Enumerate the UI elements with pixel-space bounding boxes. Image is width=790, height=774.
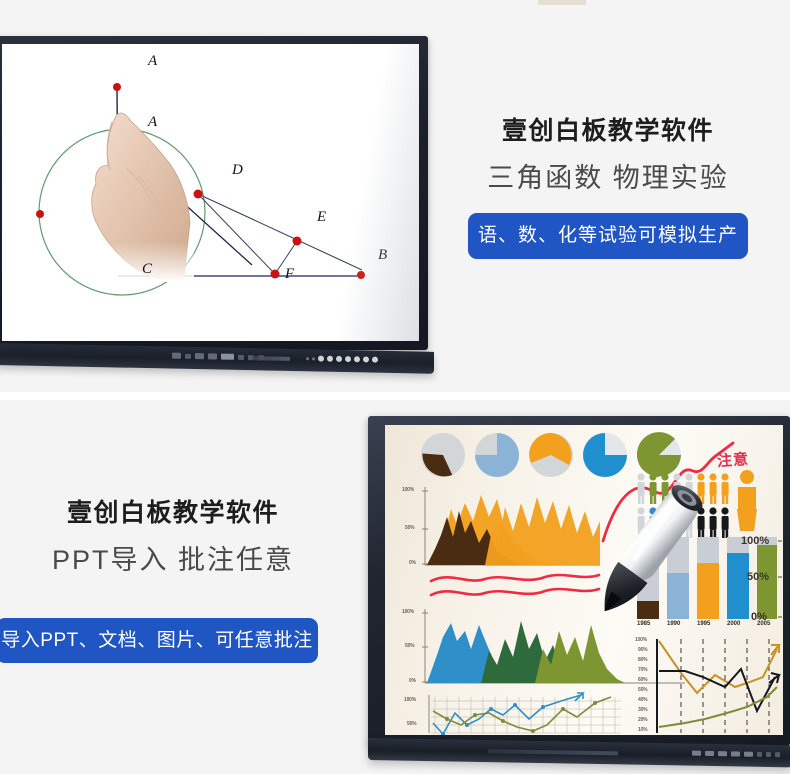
axis-tick-label: 60% <box>638 677 647 683</box>
geometry-point <box>271 270 280 279</box>
geometry-point <box>293 237 302 246</box>
control-button[interactable] <box>757 752 762 757</box>
display-control-buttons[interactable] <box>172 353 264 361</box>
axis-tick-label: 50% <box>405 525 414 531</box>
geometry-construction <box>2 44 419 341</box>
annotation-label: 注意 <box>716 448 749 471</box>
geometry-point <box>357 271 365 279</box>
control-button[interactable] <box>238 354 244 359</box>
interactive-whiteboard-display-top[interactable]: A A D E B F C <box>0 36 434 368</box>
geometry-label-a2: A <box>148 114 157 131</box>
indicator-dot <box>345 356 351 362</box>
top-subheadline: 三角函数 物理实验 <box>452 164 764 194</box>
geometry-label-b: B <box>378 247 387 264</box>
brand-plate <box>488 749 618 755</box>
top-notch-decoration <box>538 0 586 5</box>
axis-tick-label: 70% <box>638 667 647 673</box>
axis-tick-label: 20% <box>638 717 647 723</box>
ppt-annotation-section: 壹创白板教学软件 PPT导入 批注任意 导入PPT、文档、图片、可任意批注 <box>0 400 790 774</box>
axis-tick-label: 100% <box>402 609 414 615</box>
grid-line-chart <box>429 693 621 735</box>
axis-tick-label: 100% <box>402 487 414 493</box>
axis-tick-label: 50% <box>405 643 414 649</box>
geometry-label-d: D <box>232 162 243 179</box>
annotation-squiggles <box>431 575 599 595</box>
infographic-dashboard <box>385 425 783 735</box>
bar-category-label: 2000 <box>727 621 740 627</box>
product-page: A A D E B F C <box>0 0 790 774</box>
infographic-screen[interactable]: 100% 50% 0% 100% 50% 0% 100% 50% 1985 19… <box>385 425 783 735</box>
geometry-circle <box>39 129 205 295</box>
area-chart-upper <box>422 487 600 565</box>
axis-tick-label: 100% <box>404 697 416 703</box>
display-control-buttons[interactable] <box>692 751 780 758</box>
top-cta-button[interactable]: 语、数、化等试验可模拟生产 <box>468 213 748 259</box>
control-button[interactable] <box>185 353 191 358</box>
status-indicators <box>306 355 378 362</box>
indicator-dot <box>372 357 378 363</box>
indicator-dot <box>354 356 360 362</box>
geometry-label-f: F <box>285 266 294 283</box>
brand-plate <box>252 356 290 361</box>
axis-tick-label: 0% <box>409 678 416 684</box>
axis-tick-label: 80% <box>638 657 647 663</box>
bottom-subheadline: PPT导入 批注任意 <box>8 546 338 576</box>
top-headline: 壹创白板教学软件 <box>452 118 764 146</box>
indicator-dot <box>318 356 324 362</box>
control-button[interactable] <box>718 751 727 756</box>
indicator-dot <box>363 356 369 362</box>
whiteboard-screen[interactable]: A A D E B F C <box>2 44 419 341</box>
bottom-headline: 壹创白板教学软件 <box>8 500 338 528</box>
axis-tick-label: 50% <box>407 721 416 727</box>
progress-scale-label: 50% <box>747 571 769 583</box>
control-button[interactable] <box>195 353 204 359</box>
highlight-figure <box>737 470 757 531</box>
control-button[interactable] <box>766 752 771 757</box>
trend-line-chart <box>657 639 779 733</box>
progress-scale-label: 100% <box>741 535 769 547</box>
axis-tick-label: 10% <box>638 727 647 733</box>
indicator-dot <box>312 357 315 360</box>
bottom-cta-button[interactable]: 导入PPT、文档、图片、可任意批注 <box>0 618 318 663</box>
axis-tick-label: 0% <box>409 560 416 566</box>
interactive-whiteboard-display-bottom[interactable]: 100% 50% 0% 100% 50% 0% 100% 50% 1985 19… <box>368 416 790 774</box>
geometry-point <box>113 83 121 91</box>
control-button[interactable] <box>172 353 181 359</box>
axis-tick-label: 100% <box>635 637 647 643</box>
control-button[interactable] <box>221 354 234 360</box>
geometry-label-e: E <box>317 209 326 226</box>
stylus-pen[interactable] <box>587 473 707 633</box>
control-button[interactable] <box>744 752 753 757</box>
trig-physics-section: A A D E B F C <box>0 0 790 392</box>
axis-tick-label: 30% <box>638 707 647 713</box>
control-button[interactable] <box>705 751 714 756</box>
geometry-label-c: C <box>142 261 152 278</box>
control-button[interactable] <box>731 751 740 756</box>
axis-tick-label: 40% <box>638 697 647 703</box>
indicator-dot <box>327 356 333 362</box>
axis-tick-label: 50% <box>638 687 647 693</box>
geometry-point <box>114 140 123 149</box>
control-button[interactable] <box>775 752 780 757</box>
control-button[interactable] <box>208 353 217 359</box>
axis-tick-label: 90% <box>638 647 647 653</box>
geometry-label-a1: A <box>148 53 157 70</box>
top-copy-block: 壹创白板教学软件 三角函数 物理实验 语、数、化等试验可模拟生产 <box>452 118 764 259</box>
geometry-point <box>36 210 44 218</box>
indicator-dot <box>336 356 342 362</box>
section-divider <box>0 392 790 400</box>
bottom-copy-block: 壹创白板教学软件 PPT导入 批注任意 导入PPT、文档、图片、可任意批注 <box>8 500 338 575</box>
control-button[interactable] <box>692 751 701 756</box>
geometry-point <box>194 190 203 199</box>
indicator-dot <box>306 357 309 360</box>
progress-scale-label: 0% <box>751 611 767 623</box>
